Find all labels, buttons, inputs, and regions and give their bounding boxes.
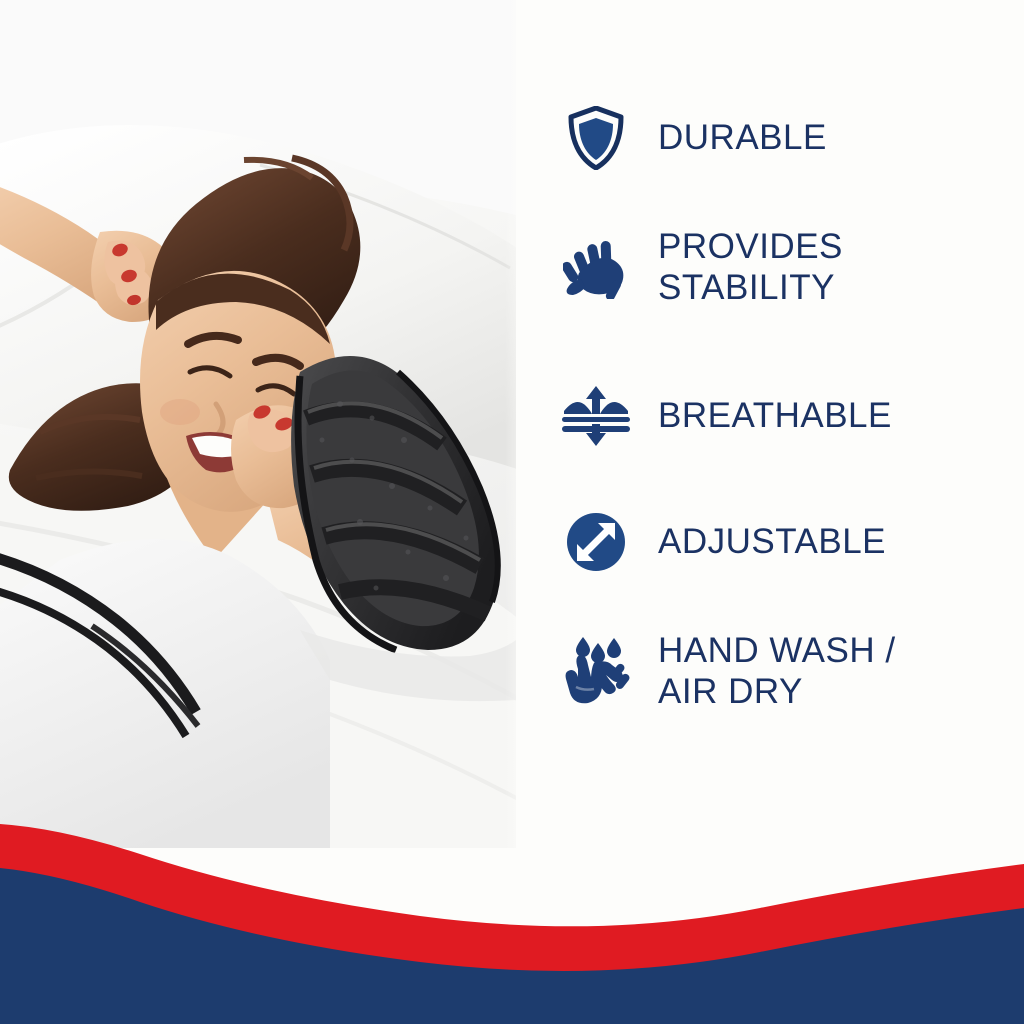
feature-row-durable: DURABLE (560, 100, 827, 176)
resize-arrow-icon (560, 504, 632, 580)
product-feature-graphic: DURABLE (0, 0, 1024, 1024)
breathable-fabric-icon (560, 378, 632, 454)
feature-row-adjustable: ADJUSTABLE (560, 504, 886, 580)
supporting-hand-icon (560, 229, 632, 305)
feature-label: PROVIDES STABILITY (658, 226, 843, 309)
shield-icon (560, 100, 632, 176)
feature-label: DURABLE (658, 117, 827, 158)
feature-label: HAND WASH / AIR DRY (658, 630, 896, 713)
bottom-wave-banner (0, 824, 1024, 1024)
feature-list: DURABLE (560, 96, 1000, 816)
feature-row-hand-wash-air-dry: HAND WASH / AIR DRY (560, 630, 896, 713)
feature-row-breathable: BREATHABLE (560, 378, 892, 454)
product-lifestyle-photo (0, 0, 516, 848)
feature-label: BREATHABLE (658, 395, 892, 436)
feature-row-provides-stability: PROVIDES STABILITY (560, 226, 843, 309)
hand-wash-icon (560, 633, 632, 709)
feature-label: ADJUSTABLE (658, 521, 886, 562)
